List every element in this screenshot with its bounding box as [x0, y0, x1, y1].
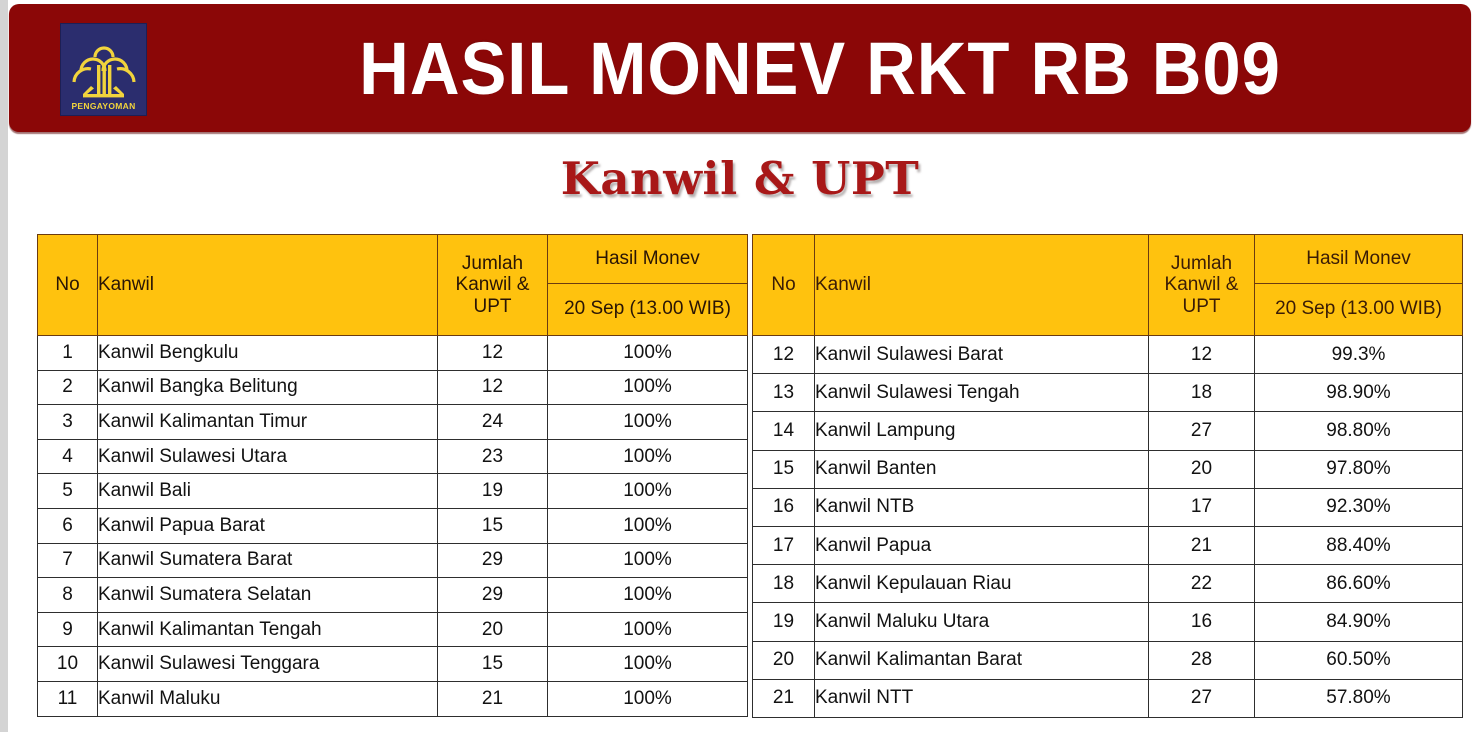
table-row: 3Kanwil Kalimantan Timur24100% — [38, 405, 748, 440]
cell-jumlah: 12 — [438, 370, 548, 405]
cell-hasil: 100% — [548, 543, 748, 578]
cell-jumlah: 17 — [1149, 488, 1255, 526]
table-row: 5Kanwil Bali19100% — [38, 474, 748, 509]
cell-hasil: 100% — [548, 439, 748, 474]
table-row: 9Kanwil Kalimantan Tengah20100% — [38, 612, 748, 647]
table-header-row: No Kanwil Jumlah Kanwil & UPT Hasil Mone… — [38, 235, 748, 336]
table-row: 20Kanwil Kalimantan Barat2860.50% — [753, 641, 1463, 679]
cell-kanwil: Kanwil NTB — [815, 488, 1149, 526]
cell-kanwil: Kanwil Papua Barat — [98, 508, 438, 543]
table-row: 15Kanwil Banten2097.80% — [753, 450, 1463, 488]
cell-jumlah: 27 — [1149, 679, 1255, 717]
cell-jumlah: 15 — [438, 647, 548, 682]
header-hasil-monev-title: Hasil Monev — [548, 235, 747, 284]
cell-kanwil: Kanwil Sulawesi Barat — [815, 336, 1149, 374]
table-row: 8Kanwil Sumatera Selatan29100% — [38, 578, 748, 613]
table-row: 13Kanwil Sulawesi Tengah1898.90% — [753, 374, 1463, 412]
cell-kanwil: Kanwil Sulawesi Tenggara — [98, 647, 438, 682]
header-hasil-monev-sub: 20 Sep (13.00 WIB) — [1255, 284, 1462, 334]
cell-no: 21 — [753, 679, 815, 717]
kanwil-table-left: No Kanwil Jumlah Kanwil & UPT Hasil Mone… — [37, 234, 748, 717]
table-row: 17Kanwil Papua2188.40% — [753, 526, 1463, 564]
table-row: 4Kanwil Sulawesi Utara23100% — [38, 439, 748, 474]
cell-jumlah: 15 — [438, 508, 548, 543]
cell-hasil: 100% — [548, 508, 748, 543]
cell-jumlah: 18 — [1149, 374, 1255, 412]
cell-no: 8 — [38, 578, 98, 613]
table-row: 1Kanwil Bengkulu12100% — [38, 336, 748, 371]
cell-no: 15 — [753, 450, 815, 488]
cell-kanwil: Kanwil Lampung — [815, 412, 1149, 450]
cell-hasil: 100% — [548, 612, 748, 647]
cell-no: 17 — [753, 526, 815, 564]
cell-jumlah: 22 — [1149, 565, 1255, 603]
cell-no: 3 — [38, 405, 98, 440]
cell-kanwil: Kanwil Sumatera Barat — [98, 543, 438, 578]
cell-jumlah: 12 — [1149, 336, 1255, 374]
cell-jumlah: 23 — [438, 439, 548, 474]
section-subtitle: Kanwil & UPT — [8, 152, 1472, 205]
cell-no: 9 — [38, 612, 98, 647]
header-kanwil: Kanwil — [815, 235, 1149, 336]
cell-kanwil: Kanwil Sumatera Selatan — [98, 578, 438, 613]
table-body-left: 1Kanwil Bengkulu12100%2Kanwil Bangka Bel… — [38, 336, 748, 717]
header-hasil-monev-title: Hasil Monev — [1255, 235, 1462, 284]
header-kanwil: Kanwil — [98, 235, 438, 336]
cell-no: 4 — [38, 439, 98, 474]
cell-kanwil: Kanwil Sulawesi Tengah — [815, 374, 1149, 412]
cell-hasil: 98.90% — [1255, 374, 1463, 412]
table-row: 11Kanwil Maluku21100% — [38, 681, 748, 716]
table-row: 7Kanwil Sumatera Barat29100% — [38, 543, 748, 578]
cell-no: 2 — [38, 370, 98, 405]
cell-no: 14 — [753, 412, 815, 450]
cell-jumlah: 29 — [438, 578, 548, 613]
table-header-row: No Kanwil Jumlah Kanwil & UPT Hasil Mone… — [753, 235, 1463, 336]
table-row: 14Kanwil Lampung2798.80% — [753, 412, 1463, 450]
svg-text:PENGAYOMAN: PENGAYOMAN — [71, 101, 135, 111]
table-row: 18Kanwil Kepulauan Riau2286.60% — [753, 565, 1463, 603]
cell-kanwil: Kanwil Bangka Belitung — [98, 370, 438, 405]
header-no: No — [753, 235, 815, 336]
title-banner: PENGAYOMAN HASIL MONEV RKT RB B09 — [9, 4, 1471, 132]
cell-no: 7 — [38, 543, 98, 578]
table-body-right: 12Kanwil Sulawesi Barat1299.3%13Kanwil S… — [753, 336, 1463, 718]
cell-hasil: 100% — [548, 336, 748, 371]
cell-hasil: 100% — [548, 578, 748, 613]
cell-jumlah: 28 — [1149, 641, 1255, 679]
cell-no: 10 — [38, 647, 98, 682]
cell-hasil: 92.30% — [1255, 488, 1463, 526]
cell-jumlah: 20 — [1149, 450, 1255, 488]
cell-hasil: 100% — [548, 647, 748, 682]
cell-hasil: 60.50% — [1255, 641, 1463, 679]
cell-kanwil: Kanwil Maluku Utara — [815, 603, 1149, 641]
cell-no: 19 — [753, 603, 815, 641]
cell-jumlah: 20 — [438, 612, 548, 647]
cell-kanwil: Kanwil Kalimantan Timur — [98, 405, 438, 440]
cell-kanwil: Kanwil Bali — [98, 474, 438, 509]
cell-hasil: 97.80% — [1255, 450, 1463, 488]
cell-kanwil: Kanwil Sulawesi Utara — [98, 439, 438, 474]
cell-jumlah: 29 — [438, 543, 548, 578]
cell-jumlah: 19 — [438, 474, 548, 509]
cell-no: 11 — [38, 681, 98, 716]
kanwil-table-right: No Kanwil Jumlah Kanwil & UPT Hasil Mone… — [752, 234, 1463, 718]
cell-no: 13 — [753, 374, 815, 412]
table-row: 10Kanwil Sulawesi Tenggara15100% — [38, 647, 748, 682]
cell-kanwil: Kanwil Kalimantan Tengah — [98, 612, 438, 647]
cell-hasil: 98.80% — [1255, 412, 1463, 450]
cell-no: 20 — [753, 641, 815, 679]
cell-hasil: 57.80% — [1255, 679, 1463, 717]
table-row: 19Kanwil Maluku Utara1684.90% — [753, 603, 1463, 641]
cell-hasil: 100% — [548, 681, 748, 716]
table-row: 16Kanwil NTB1792.30% — [753, 488, 1463, 526]
cell-hasil: 100% — [548, 474, 748, 509]
cell-kanwil: Kanwil Papua — [815, 526, 1149, 564]
cell-no: 5 — [38, 474, 98, 509]
cell-hasil: 99.3% — [1255, 336, 1463, 374]
cell-jumlah: 27 — [1149, 412, 1255, 450]
cell-hasil: 100% — [548, 405, 748, 440]
table-row: 12Kanwil Sulawesi Barat1299.3% — [753, 336, 1463, 374]
cell-hasil: 88.40% — [1255, 526, 1463, 564]
cell-no: 18 — [753, 565, 815, 603]
cell-kanwil: Kanwil Kepulauan Riau — [815, 565, 1149, 603]
pengayoman-logo: PENGAYOMAN — [60, 23, 147, 116]
cell-hasil: 86.60% — [1255, 565, 1463, 603]
cell-jumlah: 24 — [438, 405, 548, 440]
table-row: 2Kanwil Bangka Belitung12100% — [38, 370, 748, 405]
cell-kanwil: Kanwil Banten — [815, 450, 1149, 488]
cell-hasil: 84.90% — [1255, 603, 1463, 641]
page-title: HASIL MONEV RKT RB B09 — [252, 4, 1388, 132]
header-hasil-monev: Hasil Monev 20 Sep (13.00 WIB) — [548, 235, 748, 336]
cell-kanwil: Kanwil Kalimantan Barat — [815, 641, 1149, 679]
cell-no: 12 — [753, 336, 815, 374]
cell-jumlah: 21 — [1149, 526, 1255, 564]
header-hasil-monev-sub: 20 Sep (13.00 WIB) — [548, 284, 747, 334]
cell-no: 16 — [753, 488, 815, 526]
cell-kanwil: Kanwil Maluku — [98, 681, 438, 716]
cell-jumlah: 21 — [438, 681, 548, 716]
cell-jumlah: 12 — [438, 336, 548, 371]
cell-jumlah: 16 — [1149, 603, 1255, 641]
cell-kanwil: Kanwil NTT — [815, 679, 1149, 717]
cell-kanwil: Kanwil Bengkulu — [98, 336, 438, 371]
cell-no: 1 — [38, 336, 98, 371]
header-jumlah: Jumlah Kanwil & UPT — [438, 235, 548, 336]
cell-hasil: 100% — [548, 370, 748, 405]
table-row: 6Kanwil Papua Barat15100% — [38, 508, 748, 543]
cell-no: 6 — [38, 508, 98, 543]
table-row: 21Kanwil NTT2757.80% — [753, 679, 1463, 717]
slide-canvas: PENGAYOMAN HASIL MONEV RKT RB B09 Kanwil… — [8, 0, 1472, 732]
header-no: No — [38, 235, 98, 336]
header-jumlah: Jumlah Kanwil & UPT — [1149, 235, 1255, 336]
header-hasil-monev: Hasil Monev 20 Sep (13.00 WIB) — [1255, 235, 1463, 336]
